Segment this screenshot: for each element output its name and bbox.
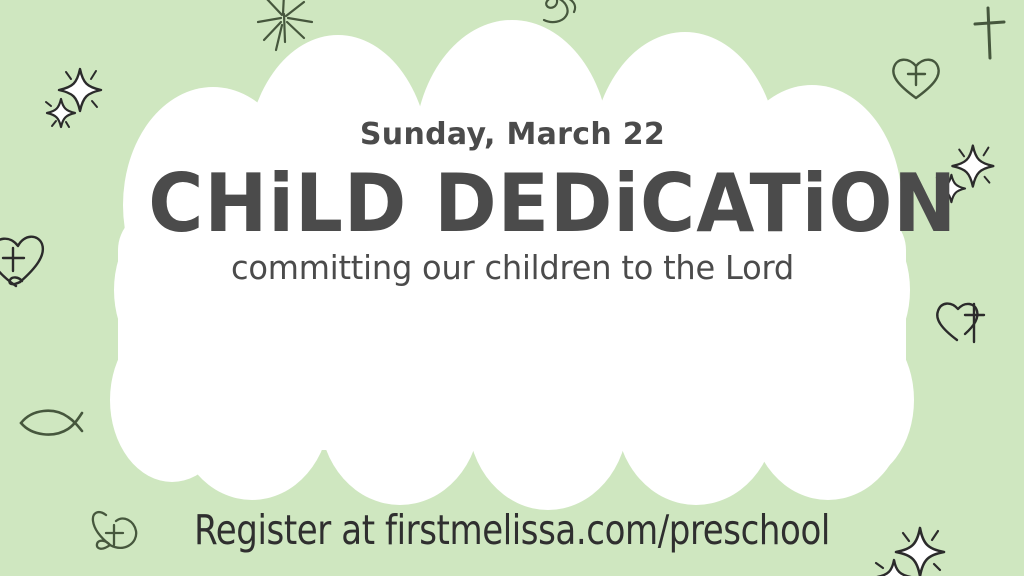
event-date: Sunday, March 22 — [125, 120, 900, 150]
cloud-card-shape — [0, 0, 1024, 576]
announcement-text-block: Sunday, March 22 CHiLD DEDiCATiON commit… — [125, 120, 900, 286]
flyer-canvas: Sunday, March 22 CHiLD DEDiCATiON commit… — [0, 0, 1024, 576]
event-subtitle: committing our children to the Lord — [137, 250, 889, 286]
page-title: CHiLD DEDiCATiON — [148, 164, 877, 244]
register-call-to-action[interactable]: Register at firstmelissa.com/preschool — [87, 510, 937, 551]
